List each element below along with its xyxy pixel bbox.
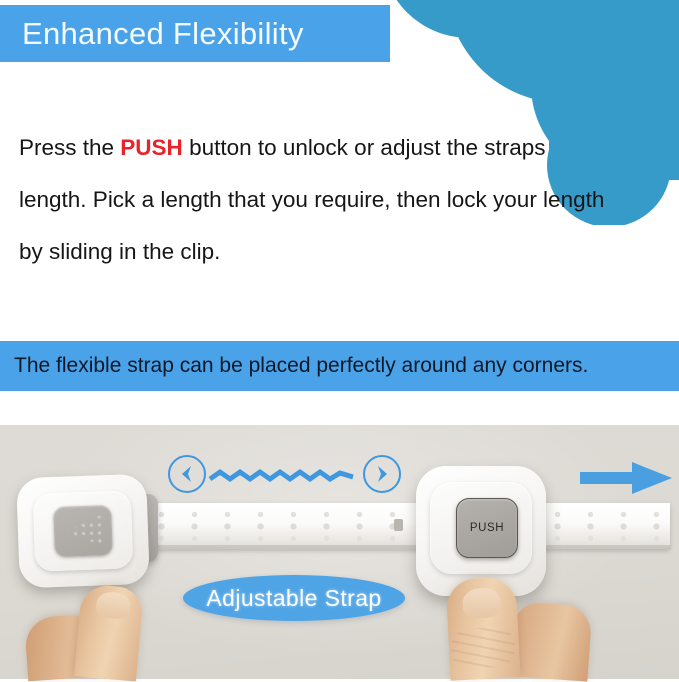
body-highlight-push: PUSH (120, 135, 183, 160)
section-title-bar: Enhanced Flexibility (0, 5, 390, 62)
finger (509, 601, 592, 681)
strap-perforation-row (158, 523, 662, 530)
page-title: Enhanced Flexibility (0, 16, 304, 52)
flexible-zigzag-icon (208, 466, 364, 488)
feature-banner-text: The flexible strap can be placed perfect… (0, 354, 588, 378)
right-buckle-body: PUSH (416, 466, 546, 596)
grip-dot-pattern-icon (64, 514, 103, 547)
finger (74, 583, 144, 681)
strap-notch (394, 519, 403, 531)
fingernail (95, 591, 131, 620)
chevron-left-icon (168, 455, 206, 493)
left-clip-inner-housing (33, 490, 134, 571)
push-button[interactable]: PUSH (456, 498, 518, 558)
knuckle-creases (450, 626, 516, 669)
adjustable-strap-callout: Adjustable Strap (183, 575, 405, 621)
strap-perforation-row (158, 511, 662, 518)
right-buckle-inner-housing: PUSH (430, 482, 532, 574)
push-button-label: PUSH (470, 522, 504, 534)
right-hand (420, 578, 610, 679)
arrow-right-icon (580, 460, 675, 496)
adjustable-strap-band (150, 503, 670, 549)
thumb (445, 576, 520, 681)
strap-perforation-row (158, 535, 662, 542)
left-clip-grip-pad (53, 505, 113, 557)
adjustable-strap-callout-label: Adjustable Strap (206, 585, 381, 612)
chevron-right-icon (363, 455, 401, 493)
strap-highlight-edge (150, 503, 670, 506)
feature-banner: The flexible strap can be placed perfect… (0, 341, 679, 391)
thumbnail (462, 587, 502, 619)
strap-shadow-edge (150, 545, 670, 549)
body-paragraph: Press the PUSH button to unlock or adjus… (19, 122, 619, 278)
body-text-before: Press the (19, 135, 120, 160)
left-clip-body (16, 474, 150, 588)
